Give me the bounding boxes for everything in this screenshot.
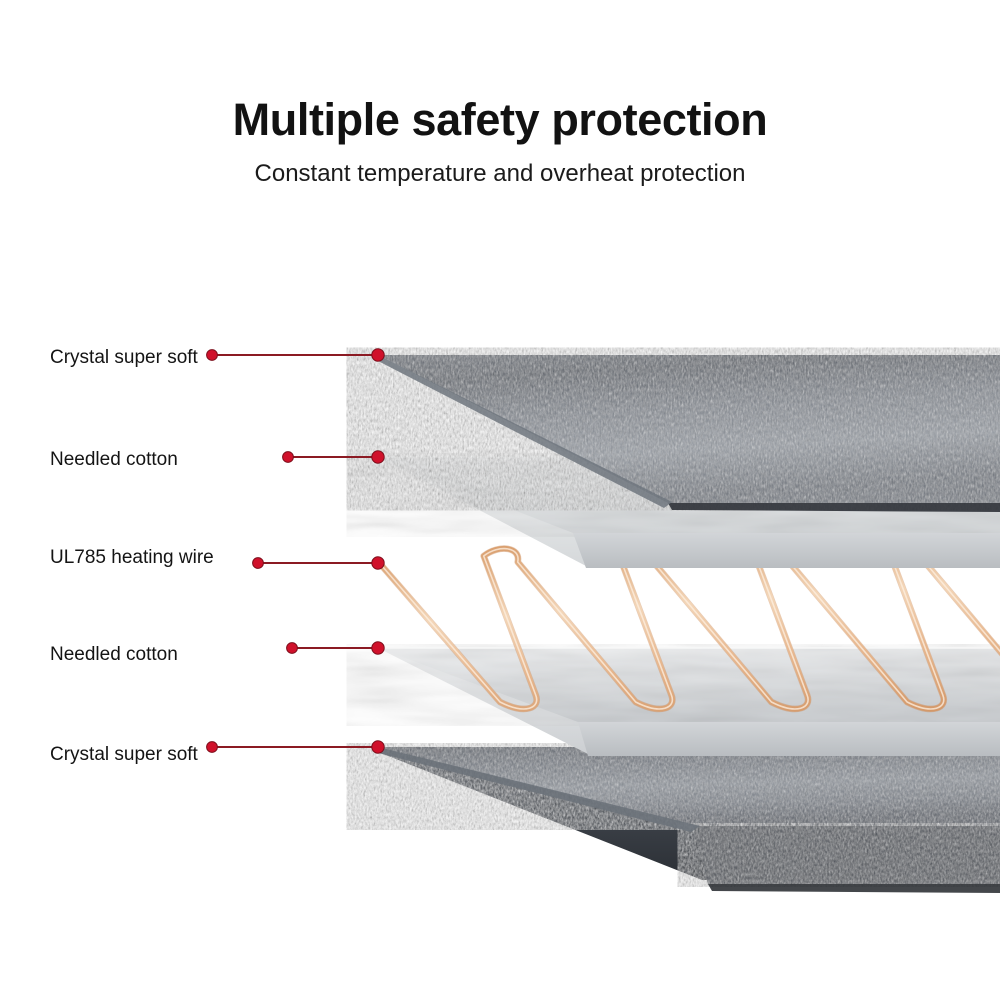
layer-label-4: Needled cotton (50, 645, 178, 664)
layer-5-crystal-super-soft (378, 747, 1000, 893)
leader-dot-layer-end (372, 349, 384, 361)
layer-label-2: Needled cotton (50, 450, 178, 469)
leader-dot-label-end (207, 742, 218, 753)
leader-dot-label-end (253, 558, 264, 569)
leader-dot-label-end (287, 643, 298, 654)
layer-label-5: Crystal super soft (50, 745, 198, 764)
leader-lines-group (207, 349, 385, 753)
leader-dot-layer-end (372, 451, 384, 463)
infographic-canvas: Multiple safety protection Constant temp… (0, 0, 1000, 1000)
leader-dot-layer-end (372, 741, 384, 753)
leader-dot-label-end (283, 452, 294, 463)
leader-dot-layer-end (372, 557, 384, 569)
layer-label-1: Crystal super soft (50, 348, 198, 367)
leader-dot-layer-end (372, 642, 384, 654)
layer-label-3: UL785 heating wire (50, 548, 214, 567)
layer-stack-illustration (0, 0, 1000, 1000)
leader-dot-label-end (207, 350, 218, 361)
